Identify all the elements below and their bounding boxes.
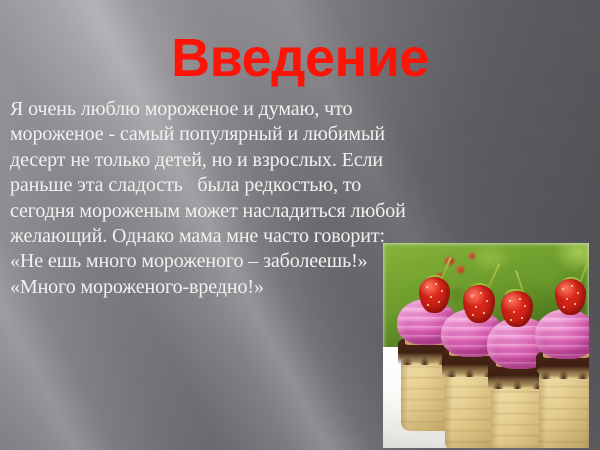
body-line: Я очень люблю мороженое и думаю, что [10, 97, 440, 122]
body-line: мороженое - самый популярный и любимый [10, 122, 440, 147]
body-line: «Не ешь много мороженого – заболеешь!» [10, 249, 440, 274]
body-line: желающий. Однако мама мне часто говорит: [10, 224, 440, 249]
presentation-slide: Введение Я очень люблю мороженое и думаю… [0, 0, 600, 450]
body-line: «Много мороженого-вредно!» [10, 275, 440, 300]
photo-soft-overlay [383, 243, 589, 448]
slide-title: Введение [0, 28, 600, 88]
body-line: десерт не только детей, но и взрослых. Е… [10, 148, 440, 173]
body-line: сегодня мороженым может насладиться любо… [10, 199, 440, 224]
slide-body-text: Я очень люблю мороженое и думаю, что мор… [10, 97, 440, 300]
ice-cream-photo [383, 243, 589, 448]
body-line: раньше эта сладость была редкостью, то [10, 173, 440, 198]
